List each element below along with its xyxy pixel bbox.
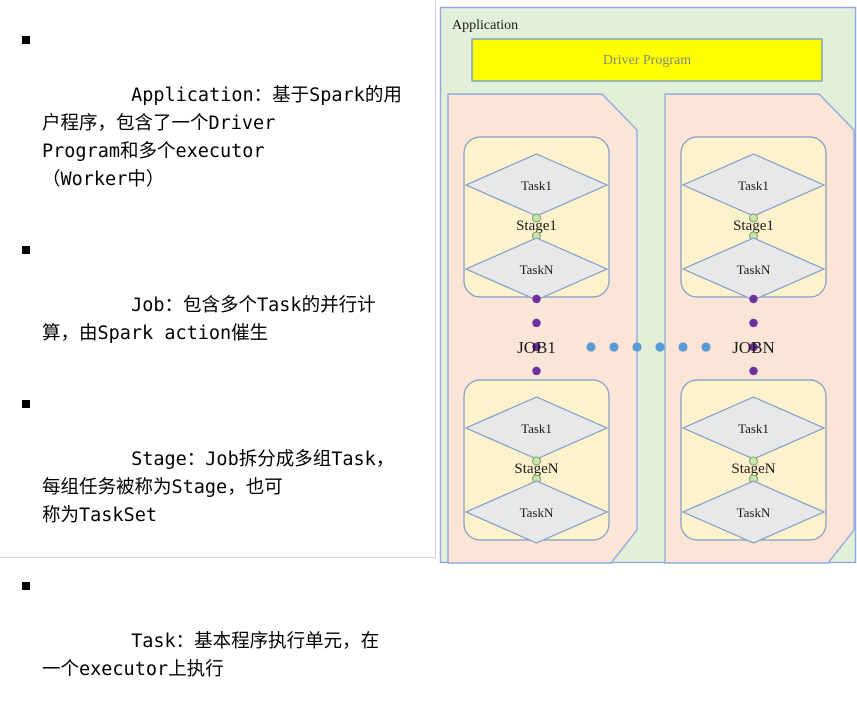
- vertical-ellipsis-dot: [532, 367, 540, 375]
- square-bullet-icon: [22, 582, 30, 590]
- list-item-application: Application：基于Spark的用 户程序，包含了一个Driver Pr…: [14, 26, 421, 222]
- horizontal-ellipsis-dot: [609, 342, 618, 351]
- bullet-text-panel: Application：基于Spark的用 户程序，包含了一个Driver Pr…: [0, 0, 436, 558]
- horizontal-ellipsis-dot: [586, 342, 595, 351]
- vertical-ellipsis-dot: [532, 319, 540, 327]
- list-item-text: Stage：Job拆分成多组Task， 每组任务被称为Stage，也可 称为Ta…: [42, 449, 394, 526]
- square-bullet-icon: [22, 400, 30, 408]
- vertical-ellipsis-dot: [749, 295, 757, 303]
- horizontal-ellipsis-dot: [655, 342, 664, 351]
- slide-canvas: Application：基于Spark的用 户程序，包含了一个Driver Pr…: [0, 0, 857, 564]
- square-bullet-icon: [22, 36, 30, 44]
- spark-application-diagram: Application Driver Program Task1 Stage1 …: [439, 6, 857, 564]
- jobn-stage1-taskn-label: TaskN: [737, 262, 771, 277]
- job1-stage1-taskn-label: TaskN: [520, 262, 554, 277]
- list-item-text: Job：包含多个Task的并行计 算，由Spark action催生: [42, 295, 376, 344]
- list-item-job: Job：包含多个Task的并行计 算，由Spark action催生: [14, 236, 421, 376]
- application-label: Application: [452, 18, 518, 33]
- bullet-list: Application：基于Spark的用 户程序，包含了一个Driver Pr…: [0, 0, 435, 712]
- horizontal-ellipsis-dot: [678, 342, 687, 351]
- list-item-stage: Stage：Job拆分成多组Task， 每组任务被称为Stage，也可 称为Ta…: [14, 390, 421, 558]
- job1-label: JOB1: [517, 338, 556, 357]
- job1-stagen-taskn-label: TaskN: [520, 505, 554, 520]
- jobn-label: JOBN: [732, 338, 775, 357]
- vertical-ellipsis-dot: [532, 295, 540, 303]
- jobn-stagen-taskn-label: TaskN: [737, 505, 771, 520]
- horizontal-ellipsis-dot: [701, 342, 710, 351]
- driver-program-label: Driver Program: [603, 53, 691, 68]
- jobn-stage1-task1-label: Task1: [738, 178, 769, 193]
- vertical-ellipsis-dot: [749, 367, 757, 375]
- jobn-stagen-task1-label: Task1: [738, 421, 769, 436]
- job1-stagen-task1-label: Task1: [521, 421, 552, 436]
- list-item-text: Application：基于Spark的用 户程序，包含了一个Driver Pr…: [42, 85, 402, 190]
- list-item-text: Task：基本程序执行单元，在 一个executor上执行: [42, 631, 379, 680]
- vertical-ellipsis-dot: [749, 319, 757, 327]
- horizontal-ellipsis-dot: [632, 342, 641, 351]
- square-bullet-icon: [22, 246, 30, 254]
- job1-stage1-task1-label: Task1: [521, 178, 552, 193]
- list-item-task: Task：基本程序执行单元，在 一个executor上执行: [14, 572, 421, 712]
